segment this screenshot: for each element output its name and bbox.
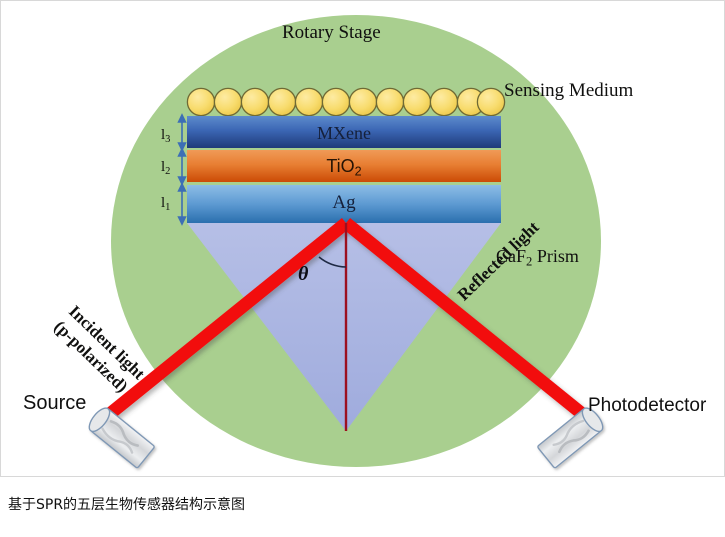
sensing-particle bbox=[241, 88, 268, 115]
sensing-medium-label: Sensing Medium bbox=[504, 81, 633, 100]
thickness-label-l1: l1 bbox=[161, 195, 170, 213]
rotary-stage-label: Rotary Stage bbox=[282, 23, 381, 42]
thickness-label-l2-subscript: 2 bbox=[165, 166, 170, 177]
sensing-particle bbox=[376, 88, 403, 115]
source-label: Source bbox=[23, 393, 86, 413]
layer-label-tio2: TiO2 bbox=[187, 157, 501, 178]
thickness-label-l3: l3 bbox=[161, 127, 170, 145]
thickness-label-l2: l2 bbox=[161, 159, 170, 177]
sensing-particle bbox=[268, 88, 295, 115]
layer-label-tio2-subscript: 2 bbox=[355, 165, 362, 179]
source-fiber-tip bbox=[86, 405, 155, 469]
figure-caption: 基于SPR的五层生物传感器结构示意图 bbox=[8, 494, 245, 514]
sensing-particle bbox=[349, 88, 376, 115]
thickness-label-l3-subscript: 3 bbox=[165, 134, 170, 145]
sensing-particle bbox=[430, 88, 457, 115]
sensing-particle bbox=[187, 88, 214, 115]
layer-label-tio2-base: TiO bbox=[326, 156, 354, 176]
layer-label-ag: Ag bbox=[187, 193, 501, 212]
figure-root: Rotary Stage Sensing Medium CaF2 Prism M… bbox=[0, 0, 725, 537]
photodetector-label: Photodetector bbox=[588, 396, 706, 415]
sensing-particle bbox=[322, 88, 349, 115]
sensing-particle bbox=[214, 88, 241, 115]
sensing-particle bbox=[403, 88, 430, 115]
incidence-angle-label: θ bbox=[298, 264, 308, 284]
layer-label-mxene: MXene bbox=[187, 124, 501, 142]
sensing-particle bbox=[477, 88, 504, 115]
caf2-prism-label-tail: Prism bbox=[532, 246, 579, 266]
thickness-label-l1-subscript: 1 bbox=[165, 202, 170, 213]
sensing-particle bbox=[295, 88, 322, 115]
diagram-frame: Rotary Stage Sensing Medium CaF2 Prism M… bbox=[0, 0, 725, 477]
